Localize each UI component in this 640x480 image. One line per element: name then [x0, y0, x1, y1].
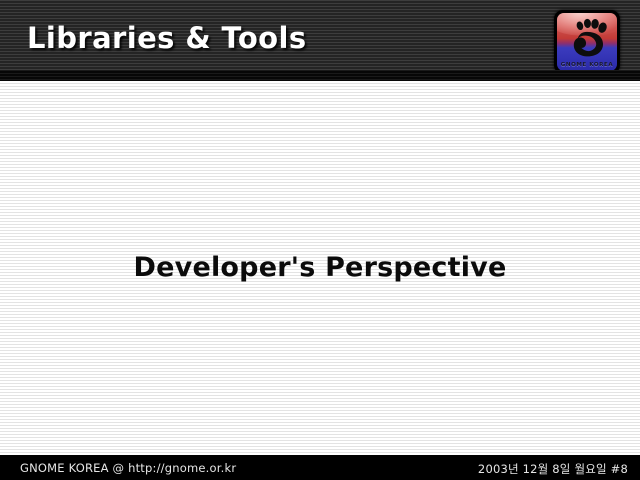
gnome-foot-icon — [557, 14, 617, 59]
presentation-slide: Libraries & Tools GNOME KOREA Develo — [0, 0, 640, 480]
slide-header: Libraries & Tools GNOME KOREA — [0, 0, 640, 81]
slide-footer: GNOME KOREA @ http://gnome.or.kr 2003년 1… — [0, 455, 640, 480]
logo-inner: GNOME KOREA — [557, 13, 617, 71]
gnome-korea-logo: GNOME KOREA — [554, 10, 620, 74]
footer-credit: GNOME KOREA @ http://gnome.or.kr — [20, 461, 236, 475]
logo-caption: GNOME KOREA — [557, 62, 617, 68]
slide-body: Developer's Perspective — [0, 81, 640, 455]
content-heading: Developer's Perspective — [0, 252, 640, 283]
footer-date-and-page: 2003년 12월 8일 월요일 #8 — [478, 461, 628, 477]
header-divider — [0, 70, 640, 81]
slide-title: Libraries & Tools — [27, 21, 306, 55]
